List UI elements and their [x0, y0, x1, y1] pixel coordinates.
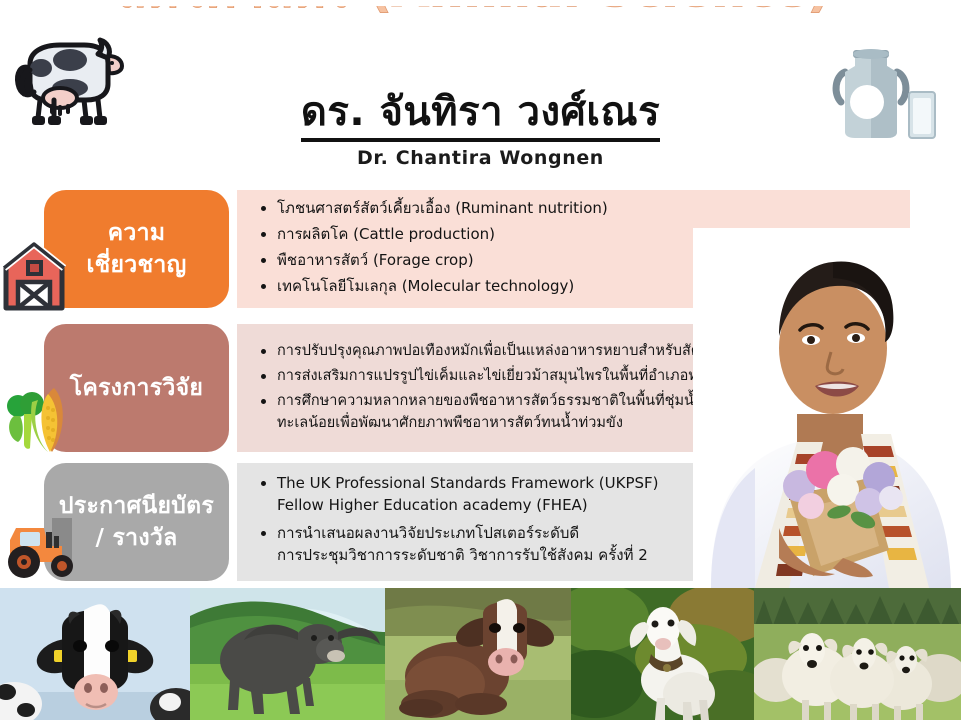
- animal-photo-strip: [0, 588, 961, 720]
- section-label-awards: ประกาศนียบัตร / รางวัล: [44, 463, 229, 581]
- poster-root: สัตวศาสตร์ (Animal Science) ดร. จันทิรา …: [0, 0, 961, 720]
- brown-cow-lying-photo: [385, 588, 571, 720]
- section-label-expertise: ความ เชี่ยวชาญ: [44, 190, 229, 308]
- water-buffalo-photo: [190, 588, 385, 720]
- holstein-dairy-cow-photo: [0, 588, 190, 720]
- portrait-photo: [693, 228, 961, 588]
- page-title: ดร. จันทิรา วงศ์เณร: [0, 88, 961, 136]
- thai-name-text: ดร. จันทิรา วงศ์เณร: [301, 89, 660, 142]
- list-item: โภชนศาสตร์สัตว์เคี้ยวเอื้อง (Ruminant nu…: [257, 197, 896, 220]
- section-label-research: โครงการวิจัย: [44, 324, 229, 452]
- page-subtitle: Dr. Chantira Wongnen: [0, 147, 961, 169]
- goat-photo: [571, 588, 754, 720]
- header: สัตวศาสตร์ (Animal Science) ดร. จันทิรา …: [0, 0, 961, 188]
- milk-can-and-glass-icon: [825, 32, 943, 150]
- page-title-text: สัตวศาสตร์ (Animal Science): [118, 6, 831, 18]
- sheep-flock-photo: [754, 588, 961, 720]
